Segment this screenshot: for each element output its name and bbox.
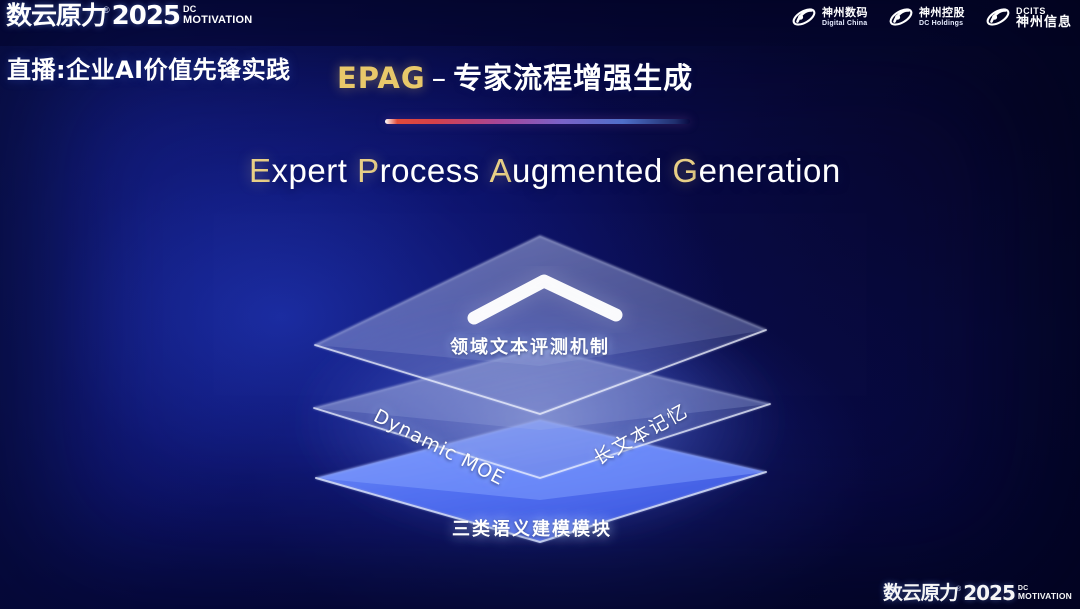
brand-dc-line1: DC bbox=[183, 5, 252, 14]
brand-dc-line2: MOTIVATION bbox=[1018, 592, 1072, 601]
brand-dc-motivation: DC MOTIVATION bbox=[1018, 585, 1072, 601]
partner-name-cn: 神州信息 bbox=[1016, 16, 1072, 29]
partner-logo-dcits: DCITS 神州信息 bbox=[985, 4, 1072, 30]
subtitle-cap-e: E bbox=[249, 152, 272, 189]
partner-logo-text: 神州数码 Digital China bbox=[822, 7, 868, 27]
partner-logo-group: 神州数码 Digital China 神州控股 DC Holdings bbox=[791, 4, 1072, 30]
subtitle-cap-a: A bbox=[489, 152, 512, 189]
gradient-divider bbox=[385, 119, 690, 124]
subtitle-rest-expert: xpert bbox=[272, 152, 348, 189]
slide-headline: EPAG–专家流程增强生成 bbox=[337, 55, 693, 97]
layer-label-bottom: 三类语义建模模块 bbox=[452, 515, 612, 541]
partner-name-cn: 神州数码 bbox=[822, 7, 868, 18]
subtitle-cap-g: G bbox=[672, 152, 698, 189]
brand-year: 2025 bbox=[112, 2, 180, 30]
partner-name-en: DC Holdings bbox=[919, 20, 965, 27]
brand-name-cn: 数云原力 bbox=[883, 583, 958, 604]
slide-subtitle: Expert Process Augmented Generation bbox=[249, 152, 841, 190]
brand-logo-bottom-right: 数云原力 ® 2025 DC MOTIVATION bbox=[883, 583, 1072, 604]
swirl-logo-icon bbox=[791, 4, 817, 30]
partner-logo-text: 神州控股 DC Holdings bbox=[919, 7, 965, 27]
brand-dc-motivation: DC MOTIVATION bbox=[183, 5, 252, 26]
brand-name-cn: 数云原力 bbox=[6, 2, 106, 30]
partner-logo-dc-holdings: 神州控股 DC Holdings bbox=[888, 4, 965, 30]
subtitle-cap-p: P bbox=[357, 152, 380, 189]
layer-label-top: 领域文本评测机制 bbox=[450, 333, 610, 359]
brand-year: 2025 bbox=[963, 583, 1015, 604]
layer-label-middle-right: 长文本记忆 bbox=[588, 396, 693, 471]
headline-dash: – bbox=[432, 61, 448, 95]
partner-logo-digital-china: 神州数码 Digital China bbox=[791, 4, 868, 30]
chevron-up-icon bbox=[474, 281, 616, 318]
partner-logo-text: DCITS 神州信息 bbox=[1016, 5, 1072, 29]
subtitle-rest-process: rocess bbox=[380, 152, 480, 189]
subtitle-rest-augmented: ugmented bbox=[512, 152, 663, 189]
headline-acronym: EPAG bbox=[337, 61, 426, 95]
swirl-logo-icon bbox=[888, 4, 914, 30]
swirl-logo-icon bbox=[985, 4, 1011, 30]
subtitle-rest-generation: eneration bbox=[699, 152, 841, 189]
partner-name-cn: 神州控股 bbox=[919, 7, 965, 18]
layer-label-middle-left: Dynamic MOE bbox=[370, 405, 508, 490]
headline-chinese: 专家流程增强生成 bbox=[453, 61, 693, 95]
brand-dc-line2: MOTIVATION bbox=[183, 14, 252, 26]
partner-name-en: Digital China bbox=[822, 20, 868, 27]
live-stream-banner-text: 直播:企业AI价值先锋实践 bbox=[7, 50, 291, 85]
stack-layer-top bbox=[315, 236, 766, 414]
brand-logo-top-left: 数云原力 ® 2025 DC MOTIVATION bbox=[6, 2, 252, 30]
slide-canvas: 数云原力 ® 2025 DC MOTIVATION 直播:企业AI价值先锋实践 … bbox=[0, 0, 1080, 609]
